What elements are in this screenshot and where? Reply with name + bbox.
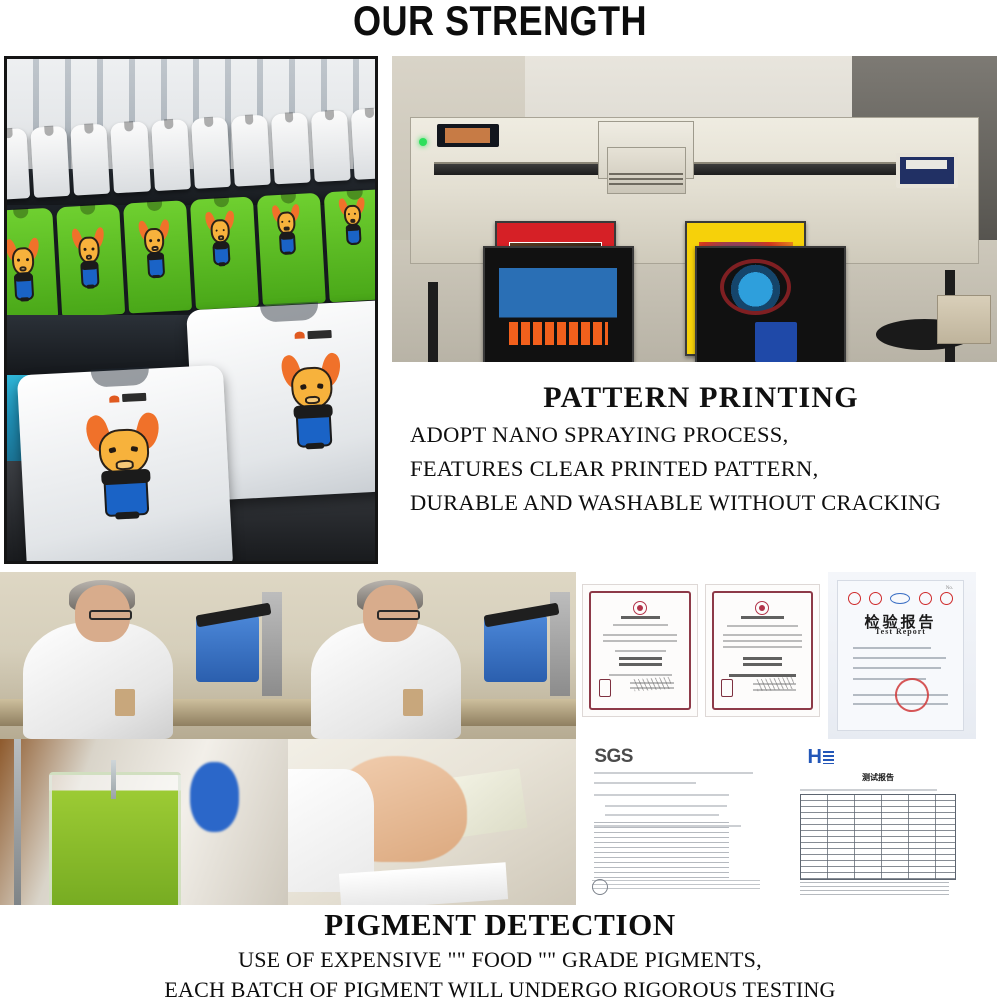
eyeglasses-icon [377, 610, 420, 620]
bull-mascot-icon [207, 210, 235, 269]
pattern-printing-line-2: FEATURES CLEAR PRINTED PATTERN, [392, 452, 998, 486]
tee-white-large-front [17, 365, 233, 564]
report-number-label: No. [946, 586, 953, 591]
pigment-detection-line-1: USE OF EXPENSIVE "" FOOD "" GRADE PIGMEN… [0, 945, 1000, 975]
h-report-title: 测试报告 [780, 772, 976, 783]
tee-white [4, 128, 31, 200]
blue-bin [755, 322, 797, 362]
eyeglasses-icon [89, 610, 132, 620]
pattern-printing-line-1: ADOPT NANO SPRAYING PROCESS, [392, 418, 998, 452]
tee-white [191, 117, 231, 189]
beaker-green-liquid [49, 772, 181, 905]
ccc-logo-icon [869, 592, 882, 605]
shark-logo-icon [720, 259, 791, 315]
conveyor-row-green-tees [4, 189, 378, 321]
bull-mascot-icon [74, 227, 105, 292]
cma-logo-icon [919, 592, 932, 605]
printer-gantry-rail [434, 162, 955, 175]
sample-bottle [115, 689, 135, 716]
tee-white [151, 119, 191, 191]
certification-seal-icon [633, 601, 647, 615]
document-h-test-report: H 测试报告 [780, 739, 976, 905]
certification-seal-icon [755, 601, 769, 615]
photo-tshirt-conveyor [4, 56, 378, 564]
pattern-printing-heading: PATTERN PRINTING [392, 378, 998, 418]
photo-lab-technician-1 [0, 572, 288, 739]
sample-bottle [403, 689, 423, 716]
sgs-footer-text [592, 880, 759, 892]
pattern-printing-line-3: DURABLE AND WASHABLE WITHOUT CRACKING [392, 486, 998, 520]
photo-green-pigment-beaker [0, 739, 288, 905]
cal-logo-icon [940, 592, 953, 605]
document-sgs-test-report: SGS [576, 739, 780, 905]
tee-white [231, 115, 271, 187]
bull-mini-logo [108, 393, 145, 403]
tee-white [271, 113, 311, 185]
cqc-logo-icon [848, 592, 861, 605]
bull-mascot-icon [7, 237, 40, 305]
platen-black-junior: JUNIOR COMPANY [483, 246, 634, 362]
iso-logo-icon [890, 593, 910, 604]
tee-green [257, 192, 326, 306]
certificate-iso-cn [582, 584, 698, 718]
tee-green [4, 207, 58, 321]
bull-mini-logo [295, 330, 332, 340]
h-report-footnotes [800, 882, 949, 895]
pigment-detection-text-block: PIGMENT DETECTION USE OF EXPENSIVE "" FO… [0, 905, 1000, 1000]
documents-iso-certificates [576, 572, 828, 739]
poster-root: OUR STRENGTH [0, 0, 1000, 1000]
h-logo-letter: H [807, 746, 821, 768]
page-title: OUR STRENGTH [70, 0, 930, 44]
certification-logo-row [848, 592, 953, 605]
h-lab-logo: H [807, 746, 833, 769]
sgs-results-table [594, 822, 729, 878]
tee-green [190, 196, 259, 310]
sgs-logo: SGS [594, 746, 633, 768]
tee-white [31, 126, 71, 198]
h-logo-mark-icon [823, 751, 834, 764]
bull-mascot-icon [283, 352, 342, 454]
lab-rail [14, 739, 21, 905]
tee-green [123, 200, 192, 314]
certificate-of-approval [705, 584, 821, 718]
bull-mascot-icon [140, 218, 170, 281]
report-title-en: Test Report [838, 627, 963, 636]
power-led-icon [419, 138, 427, 146]
bull-mascot-icon [274, 203, 301, 257]
printer-tablet-screen [437, 124, 499, 147]
accreditation-badge-icon [721, 679, 733, 697]
printer-control-panel[interactable] [896, 153, 958, 188]
blue-label-blur [190, 762, 239, 832]
print-artwork-junior-company [499, 268, 617, 348]
print-artwork-sharks [697, 248, 815, 328]
bull-mascot-icon [89, 413, 161, 525]
tee-white [311, 110, 351, 182]
tee-white [351, 108, 378, 180]
pigment-detection-heading: PIGMENT DETECTION [0, 905, 1000, 945]
pattern-printing-text-block: PATTERN PRINTING ADOPT NANO SPRAYING PRO… [392, 378, 998, 520]
tee-green [56, 203, 125, 317]
printer-side-box [937, 295, 991, 344]
photo-hands-sample [288, 739, 576, 905]
printer-vent-grille [609, 173, 683, 187]
tee-white [71, 124, 111, 196]
stirring-rod [111, 760, 116, 799]
official-red-stamp-icon [892, 674, 933, 715]
tee-white [111, 122, 151, 194]
printer-leg-left [428, 282, 438, 362]
pigment-detection-line-2: EACH BATCH OF PIGMENT WILL UNDERGO RIGOR… [0, 975, 1000, 1000]
tee-green [324, 189, 378, 303]
pigment-detection-photo-strip: No. 检验报告 Test Report [0, 572, 976, 905]
photo-lab-technician-2 [288, 572, 576, 739]
h-results-table [800, 794, 957, 880]
bull-mascot-icon [340, 196, 365, 248]
accreditation-badge-icon [599, 679, 611, 697]
document-chinese-test-report: No. 检验报告 Test Report [828, 572, 976, 739]
photo-flatbed-printer: JUNIOR COMPANY SHARKS [392, 56, 997, 362]
